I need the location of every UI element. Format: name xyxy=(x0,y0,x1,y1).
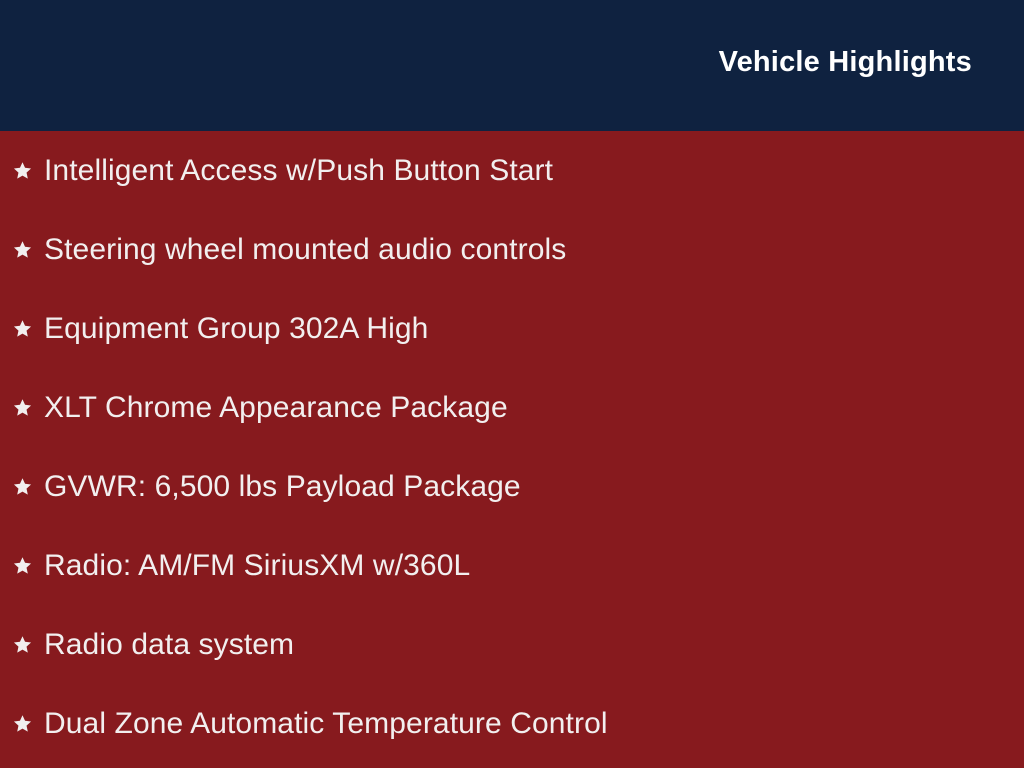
list-item: Radio: AM/FM SiriusXM w/360L xyxy=(0,526,1024,605)
page-title: Vehicle Highlights xyxy=(719,45,972,79)
list-item-label: Radio data system xyxy=(44,628,294,662)
highlights-list: Intelligent Access w/Push Button Start S… xyxy=(0,131,1024,763)
list-item-label: Steering wheel mounted audio controls xyxy=(44,233,566,267)
star-icon xyxy=(13,240,32,259)
star-icon xyxy=(13,635,32,654)
list-item-label: Radio: AM/FM SiriusXM w/360L xyxy=(44,549,470,583)
star-icon xyxy=(13,319,32,338)
list-item-label: Equipment Group 302A High xyxy=(44,312,428,346)
star-icon xyxy=(13,477,32,496)
list-item: Dual Zone Automatic Temperature Control xyxy=(0,684,1024,763)
list-item: Intelligent Access w/Push Button Start xyxy=(0,131,1024,210)
star-icon xyxy=(13,714,32,733)
slide-header-band: Vehicle Highlights xyxy=(0,0,1024,131)
vehicle-highlights-slide: Vehicle Highlights Intelligent Access w/… xyxy=(0,0,1024,768)
list-item: XLT Chrome Appearance Package xyxy=(0,368,1024,447)
list-item: Radio data system xyxy=(0,605,1024,684)
list-item-label: GVWR: 6,500 lbs Payload Package xyxy=(44,470,521,504)
star-icon xyxy=(13,161,32,180)
list-item-label: XLT Chrome Appearance Package xyxy=(44,391,508,425)
list-item-label: Dual Zone Automatic Temperature Control xyxy=(44,707,608,741)
list-item: GVWR: 6,500 lbs Payload Package xyxy=(0,447,1024,526)
list-item-label: Intelligent Access w/Push Button Start xyxy=(44,154,553,188)
list-item: Equipment Group 302A High xyxy=(0,289,1024,368)
star-icon xyxy=(13,398,32,417)
highlights-body: Intelligent Access w/Push Button Start S… xyxy=(0,131,1024,768)
star-icon xyxy=(13,556,32,575)
list-item: Steering wheel mounted audio controls xyxy=(0,210,1024,289)
